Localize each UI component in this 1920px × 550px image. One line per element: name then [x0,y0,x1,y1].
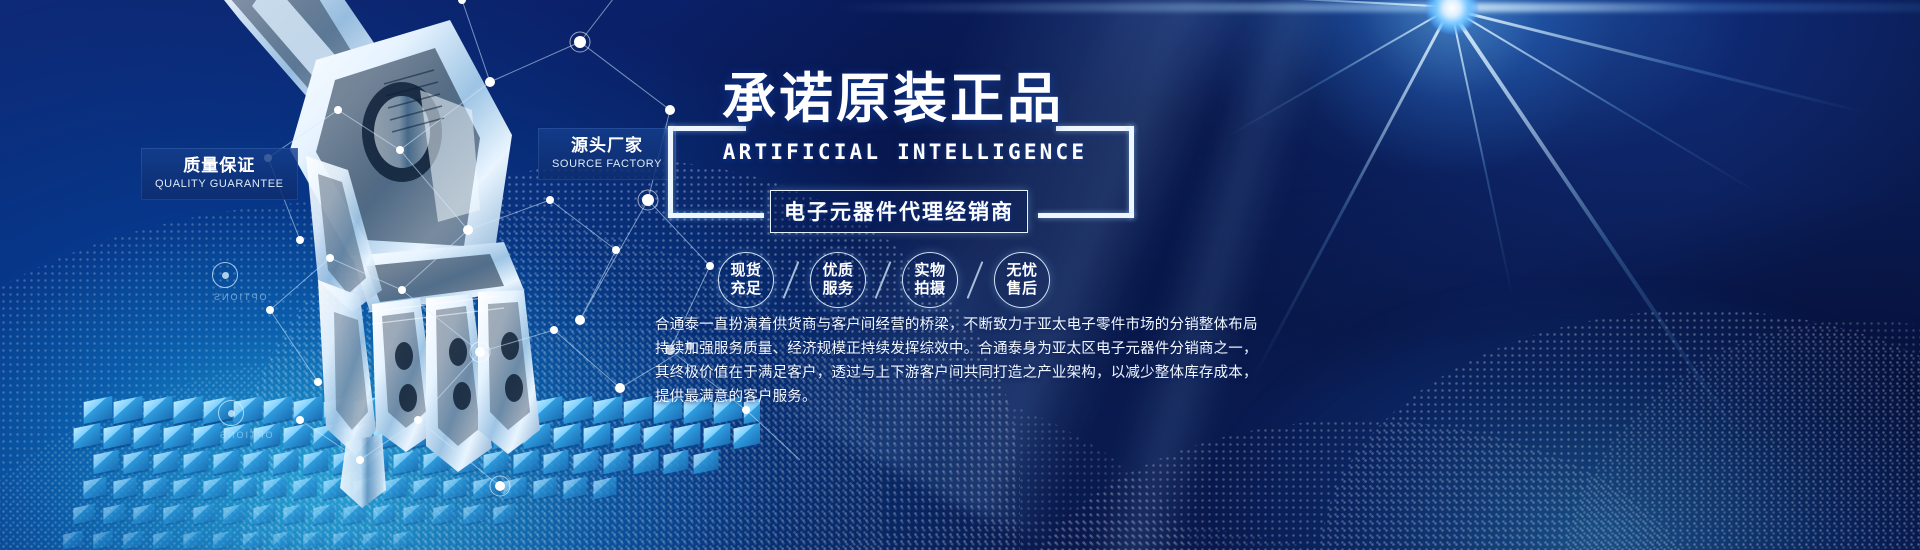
feature-stock-line2: 充足 [730,280,761,298]
tagline-box: 电子元器件代理经销商 [770,190,1028,233]
cube-block [303,530,323,549]
feature-badge-list: 现货 充足 优质 服务 实物 拍摄 无忧 售后 [718,252,1050,308]
feature-badge-service: 优质 服务 [810,252,866,308]
feature-stock-line1: 现货 [730,262,761,280]
description-line-4: 提供最满意的客户服务。 [655,386,1315,409]
cube-block [273,530,293,549]
cube-block [153,530,173,549]
cube-block [74,423,101,449]
badge-quality-cn: 质量保证 [155,155,284,176]
feature-aftersales-line1: 无忧 [1006,262,1037,280]
lock-icon [218,400,244,426]
badge-quality-en: QUALITY GUARANTEE [155,177,284,191]
cube-block [73,504,94,525]
cube-block [84,396,113,424]
headline-subtitle-en: ARTIFICIAL INTELLIGENCE [690,140,1120,164]
cube-block [363,530,383,549]
cube-block [94,450,119,475]
hero-banner: OPTIONS OPTIONS 质量保证 QUALITY GUARANTEE 源… [0,0,1920,550]
page-title: 承诺原装正品 [722,68,1142,130]
feature-badge-aftersales: 无忧 售后 [994,252,1050,308]
lock-icon [212,262,238,288]
cube-block [243,530,263,549]
feature-service-line1: 优质 [822,262,853,280]
cube-block [93,530,113,549]
watermark-label: OPTIONS [212,292,267,302]
tagline-text: 电子元器件代理经销商 [784,201,1014,224]
cube-block [393,530,413,549]
slash-divider-icon [866,252,902,308]
description-paragraph: 合通泰一直扮演着供货商与客户间经营的桥梁，不断致力于亚太电子零件市场的分销整体布… [655,314,1315,410]
watermark-badge: OPTIONS [212,262,267,302]
cube-block [213,530,233,549]
watermark-badge: OPTIONS [218,400,273,440]
feature-badge-realphoto: 实物 拍摄 [902,252,958,308]
feature-aftersales-line2: 售后 [1006,280,1037,298]
feature-realphoto-line2: 拍摄 [914,280,945,298]
description-line-2: 持续加强服务质量、经济规模正持续发挥综效中。合通泰身为亚太区电子元器件分销商之一… [655,338,1315,361]
description-line-1: 合通泰一直扮演着供货商与客户间经营的桥梁，不断致力于亚太电子零件市场的分销整体布… [655,314,1315,337]
cube-block [83,477,106,500]
badge-factory-cn: 源头厂家 [552,135,662,156]
slash-divider-icon [774,252,810,308]
slash-divider-icon [958,252,994,308]
headline-block: 承诺原装正品 ARTIFICIAL INTELLIGENCE 电子元器件代理经销… [660,72,1140,250]
badge-factory-en: SOURCE FACTORY [552,157,662,171]
cube-block [123,530,143,549]
cube-block [183,530,203,549]
badge-source-factory: 源头厂家 SOURCE FACTORY [538,128,676,180]
badge-quality-guarantee: 质量保证 QUALITY GUARANTEE [141,148,298,200]
watermark-label: OPTIONS [218,430,273,440]
cube-block [333,530,353,549]
description-line-3: 其终极价值在于满足客户，透过与上下游客户间共同打造之产业架构，以减少整体库存成本… [655,362,1315,385]
feature-badge-stock: 现货 充足 [718,252,774,308]
feature-realphoto-line1: 实物 [914,262,945,280]
feature-service-line2: 服务 [822,280,853,298]
cube-block [63,530,83,549]
